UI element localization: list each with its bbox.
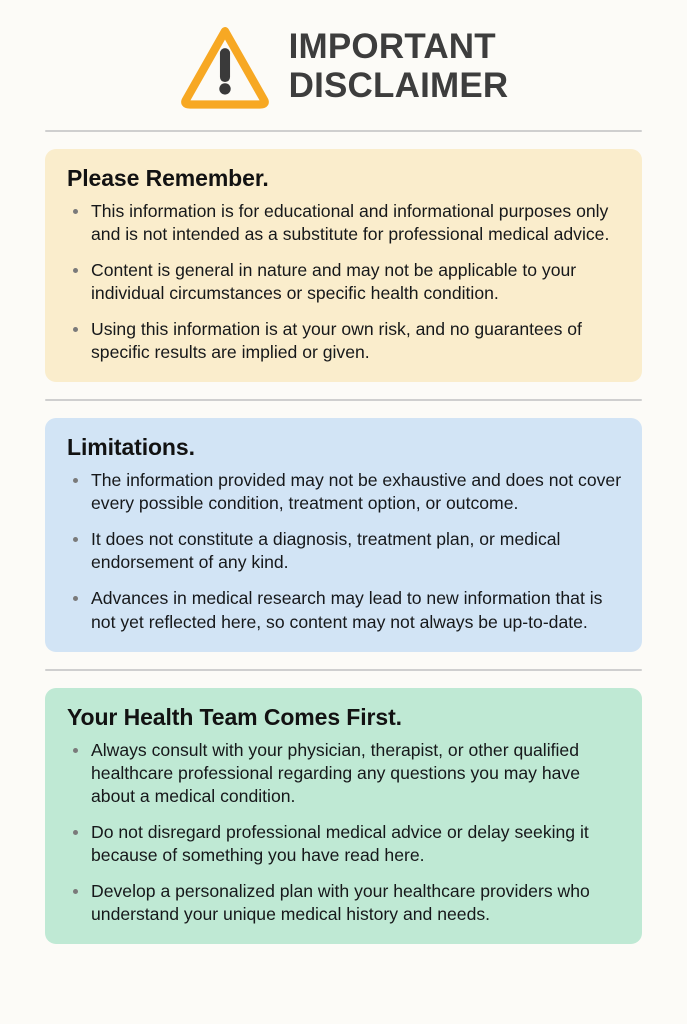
card-divider-2	[45, 669, 642, 671]
cards-container: Please Remember. This information is for…	[0, 149, 687, 944]
bullet-list: Always consult with your physician, ther…	[65, 739, 622, 926]
bullet-dot-icon	[73, 268, 78, 273]
list-item: Content is general in nature and may not…	[65, 259, 622, 305]
list-item-text: Do not disregard professional medical ad…	[91, 822, 589, 865]
list-item-text: The information provided may not be exha…	[91, 470, 621, 513]
bullet-dot-icon	[73, 830, 78, 835]
warning-triangle-icon	[179, 22, 271, 110]
disclaimer-page: IMPORTANT DISCLAIMER Please Remember. Th…	[0, 0, 687, 1024]
list-item-text: Content is general in nature and may not…	[91, 260, 576, 303]
card-divider-1	[45, 399, 642, 401]
bullet-dot-icon	[73, 596, 78, 601]
list-item: Using this information is at your own ri…	[65, 318, 622, 364]
header: IMPORTANT DISCLAIMER	[0, 0, 687, 124]
list-item: Develop a personalized plan with your he…	[65, 880, 622, 926]
list-item-text: It does not constitute a diagnosis, trea…	[91, 529, 560, 572]
bullet-dot-icon	[73, 889, 78, 894]
page-title: IMPORTANT DISCLAIMER	[289, 27, 509, 105]
card-limitations: Limitations. The information provided ma…	[45, 418, 642, 651]
list-item: The information provided may not be exha…	[65, 469, 622, 515]
list-item: Advances in medical research may lead to…	[65, 587, 622, 633]
header-divider	[45, 130, 642, 132]
card-please-remember: Please Remember. This information is for…	[45, 149, 642, 382]
bullet-list: This information is for educational and …	[65, 200, 622, 364]
list-item-text: Develop a personalized plan with your he…	[91, 881, 590, 924]
card-heading: Please Remember.	[67, 165, 622, 192]
list-item-text: Always consult with your physician, ther…	[91, 740, 580, 806]
bullet-list: The information provided may not be exha…	[65, 469, 622, 633]
list-item-text: Using this information is at your own ri…	[91, 319, 582, 362]
bullet-dot-icon	[73, 537, 78, 542]
list-item: It does not constitute a diagnosis, trea…	[65, 528, 622, 574]
card-your-health-team-comes-first: Your Health Team Comes First. Always con…	[45, 688, 642, 944]
list-item: Always consult with your physician, ther…	[65, 739, 622, 808]
card-heading: Your Health Team Comes First.	[67, 704, 622, 731]
bullet-dot-icon	[73, 478, 78, 483]
list-item-text: Advances in medical research may lead to…	[91, 588, 602, 631]
list-item: Do not disregard professional medical ad…	[65, 821, 622, 867]
bullet-dot-icon	[73, 327, 78, 332]
bullet-dot-icon	[73, 748, 78, 753]
card-heading: Limitations.	[67, 434, 622, 461]
list-item-text: This information is for educational and …	[91, 201, 609, 244]
bullet-dot-icon	[73, 209, 78, 214]
list-item: This information is for educational and …	[65, 200, 622, 246]
